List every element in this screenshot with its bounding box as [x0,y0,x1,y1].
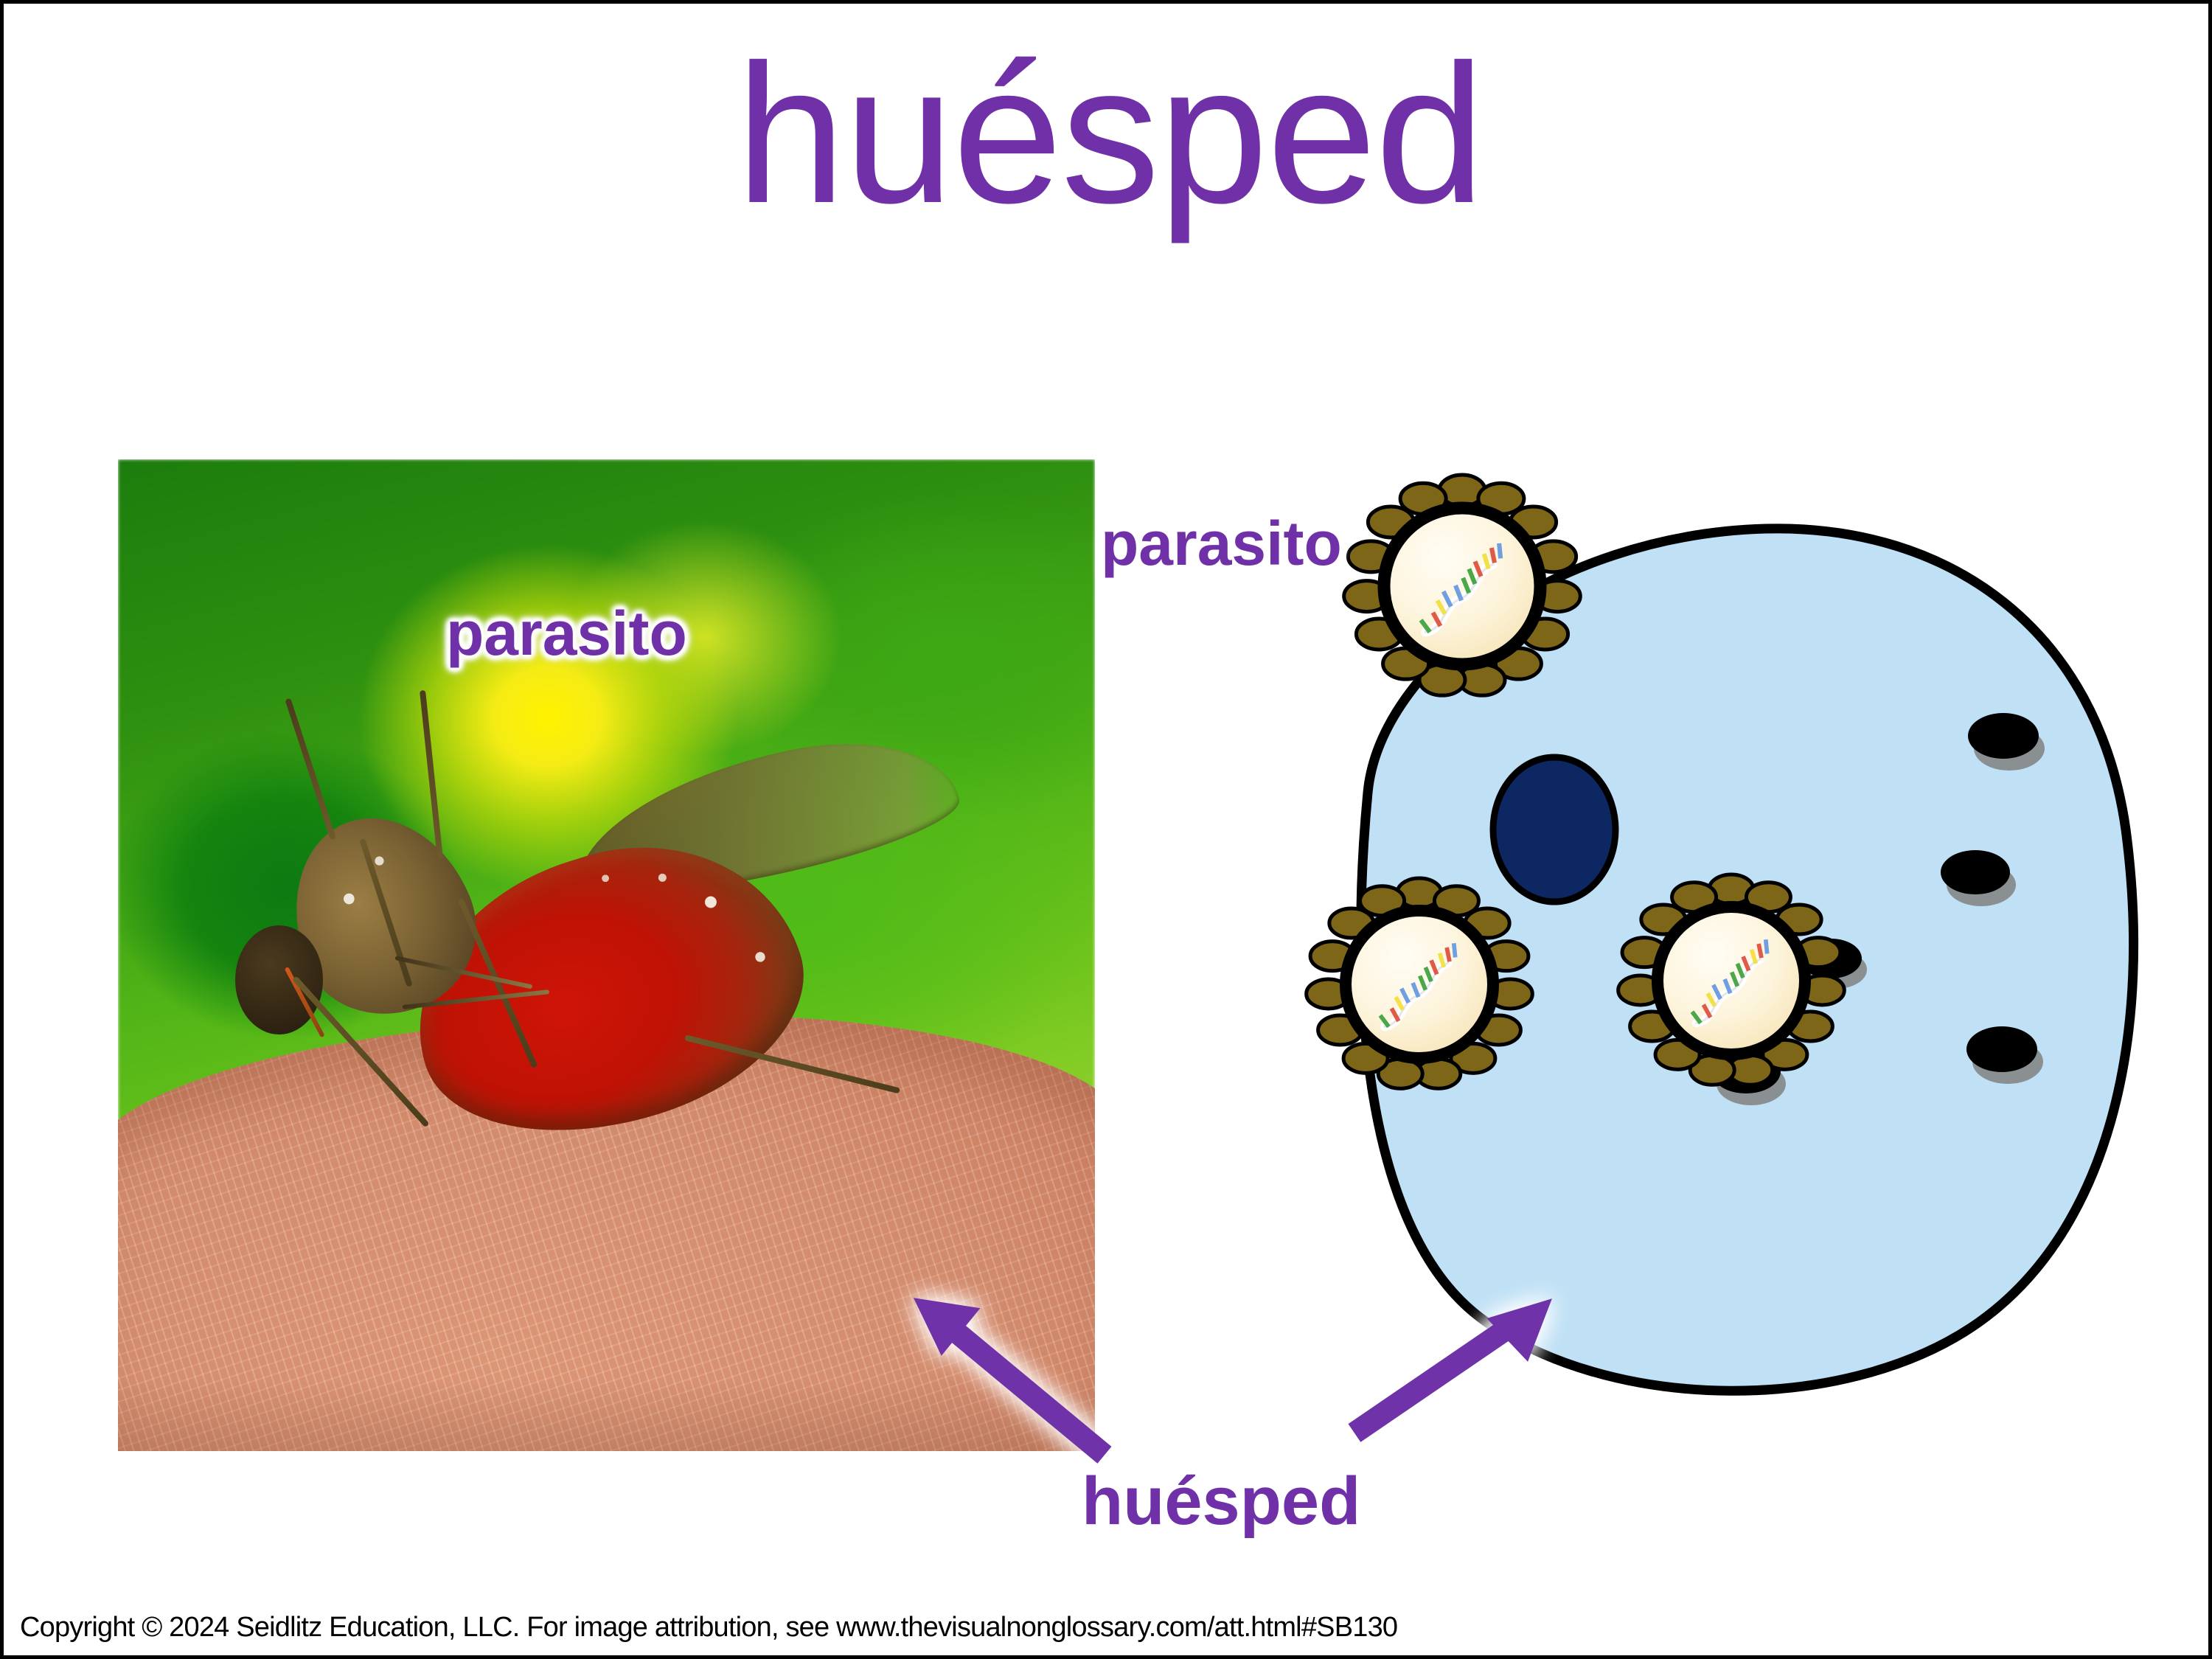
virus-capsid [1346,911,1493,1058]
copyright-footer: Copyright © 2024 Seidlitz Education, LLC… [20,1612,1397,1644]
host-cell-diagram [1206,446,2164,1427]
virus-capsid [1658,907,1805,1054]
page-title: huésped [4,35,2212,232]
cell-nucleus [1493,757,1615,902]
label-parasito-cell: parasito [1101,512,1342,574]
label-huesped: huésped [1082,1467,1360,1535]
virus-capsid [1384,508,1540,664]
slide-canvas: huésped [0,0,2212,1659]
skin-shading [118,1380,1095,1451]
label-parasito-photo: parasito [446,602,687,664]
